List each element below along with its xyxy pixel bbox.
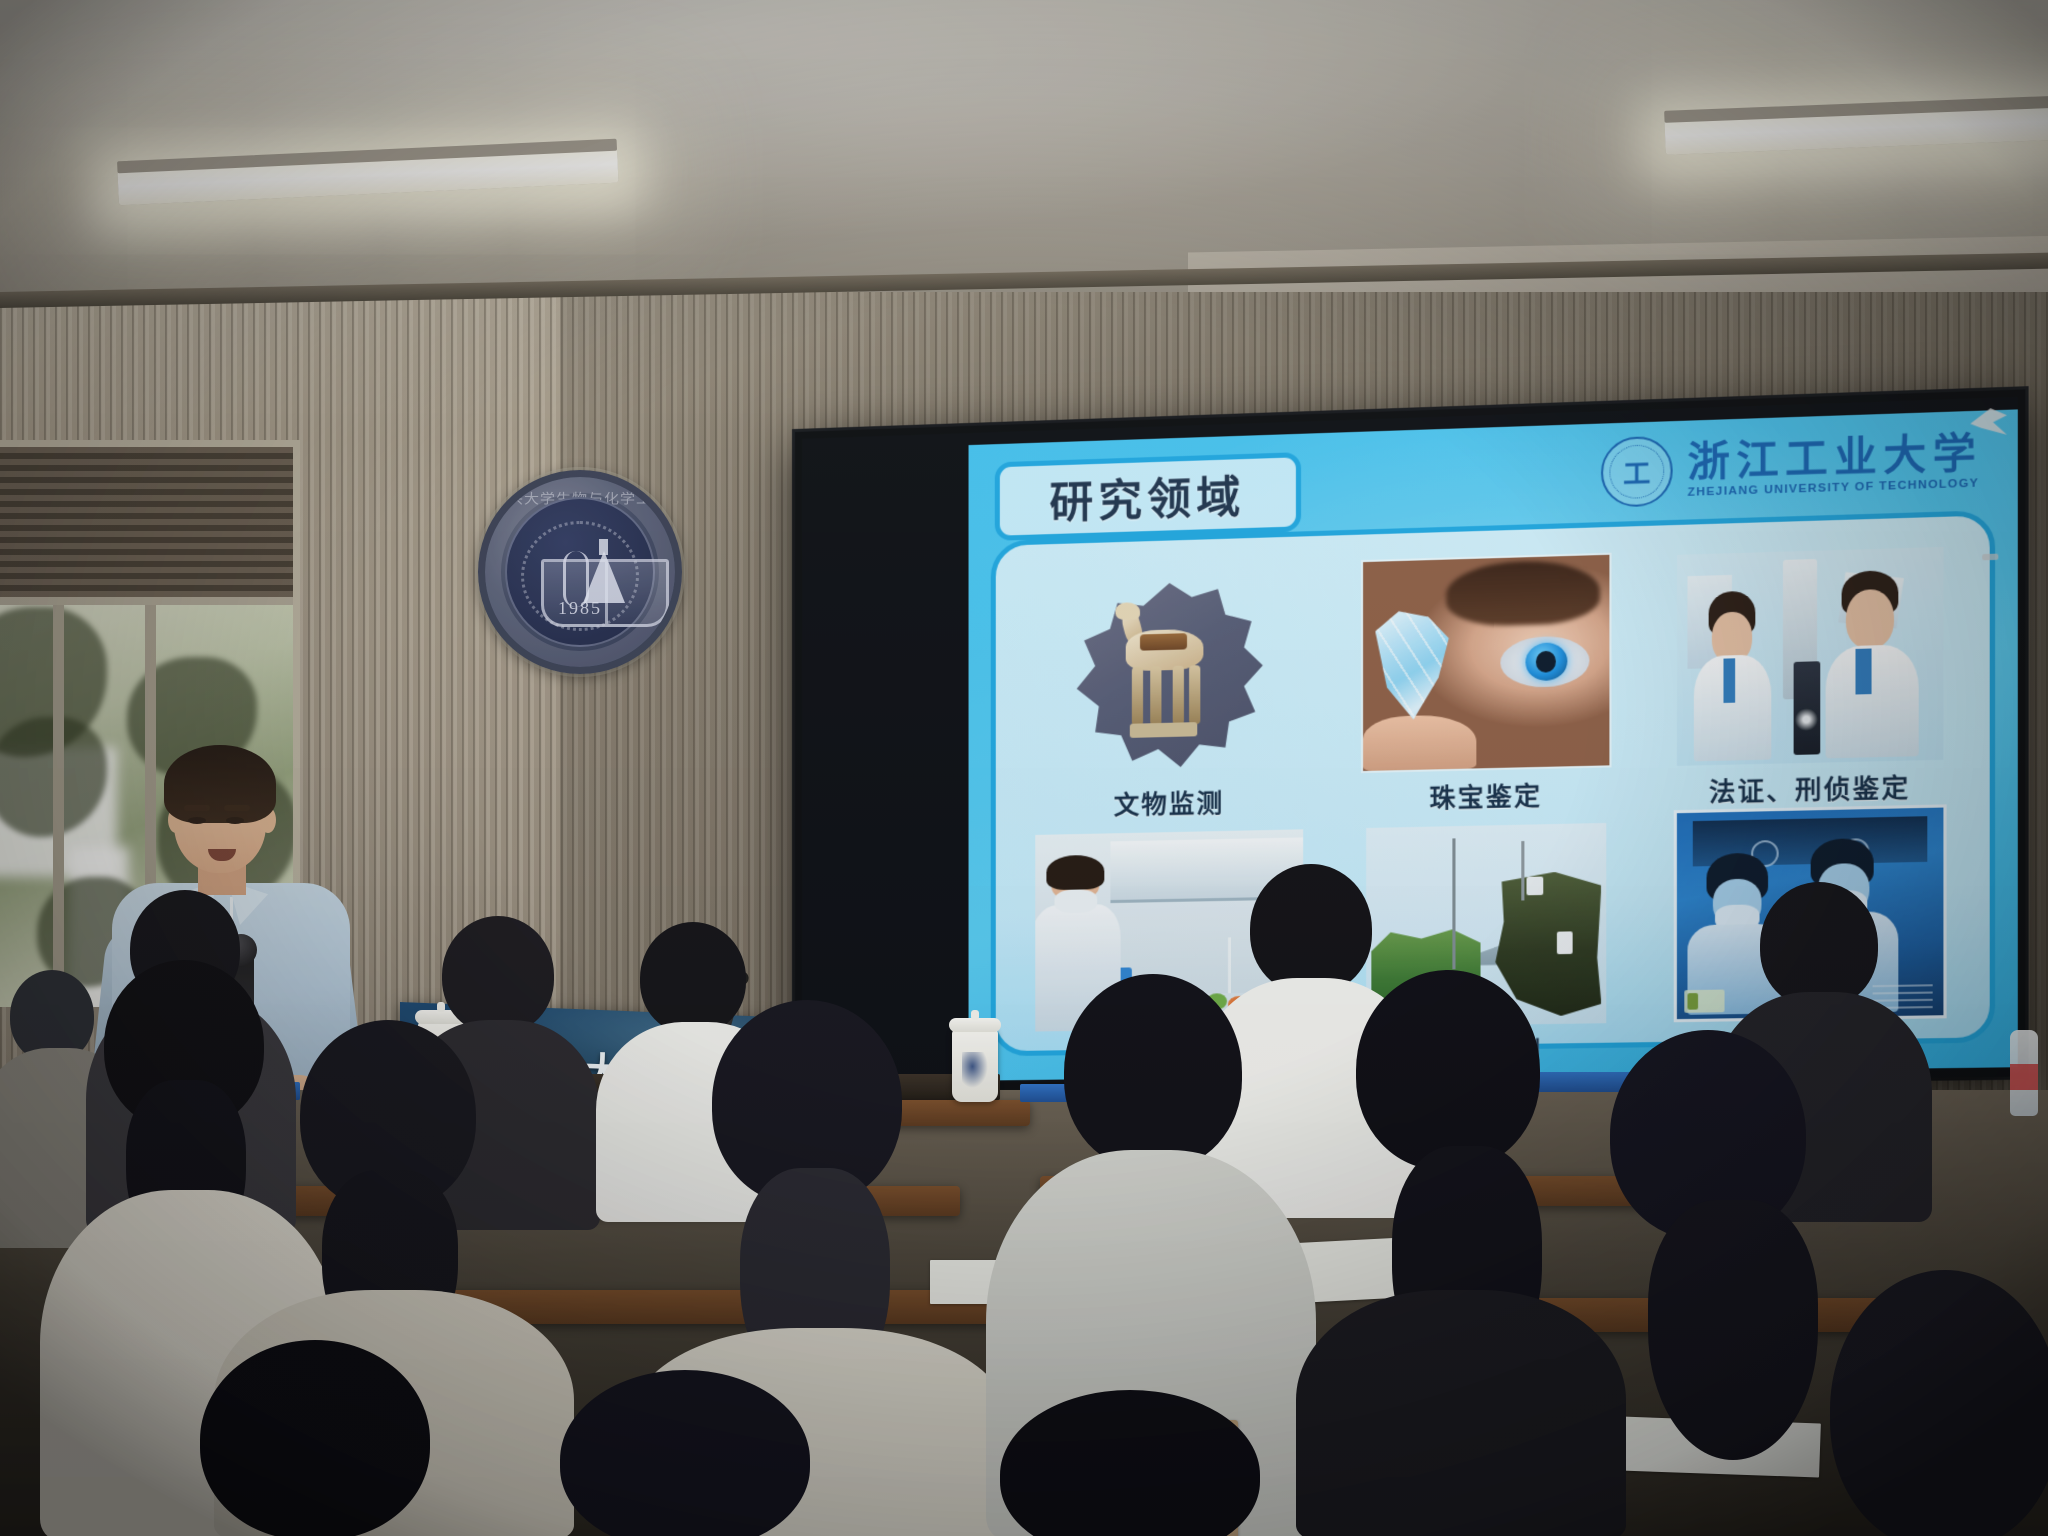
university-name-cn: 浙江工业大学 (1687, 431, 1982, 484)
university-name-block: 浙江工业大学 ZHEJIANG UNIVERSITY OF TECHNOLOGY (1687, 431, 1982, 498)
presenter-eyebrow (184, 805, 210, 811)
window-blinds[interactable] (0, 447, 293, 602)
audience-head (1064, 974, 1242, 1170)
presenter-eyebrow (224, 805, 250, 811)
emblem-flask-icon (583, 551, 625, 603)
college-emblem: 绍兴大学生物与化学工程学院 1985 (478, 470, 682, 674)
lab-badge (1684, 990, 1724, 1013)
audience-head (200, 1340, 430, 1536)
artifact-figure (1117, 602, 1215, 746)
relic-monitoring-image (1065, 572, 1275, 780)
audience-head (442, 916, 554, 1034)
forensic-person-left (1692, 590, 1782, 761)
university-logo: 工 浙江工业大学 ZHEJIANG UNIVERSITY OF TECHNOLO… (1601, 425, 1982, 508)
research-area-cell[interactable]: 法证、刑侦鉴定 (1647, 542, 1974, 811)
forensic-person-right (1825, 569, 1927, 759)
presenter-eye (226, 817, 244, 824)
slide-title: 研究领域 (1049, 462, 1245, 531)
presenter-hair (164, 745, 276, 823)
teacup (952, 1028, 998, 1102)
monitoring-mast (1452, 838, 1455, 970)
emblem-inner-disc: 1985 (505, 497, 655, 647)
finger (1363, 714, 1476, 771)
slide-title-box: 研究领域 (995, 452, 1301, 541)
sensor-box-icon (1557, 932, 1573, 955)
audience-head (1356, 970, 1540, 1170)
face-mask-icon (1054, 889, 1097, 913)
research-area-caption: 珠宝鉴定 (1429, 776, 1542, 815)
university-seal-icon: 工 (1601, 436, 1673, 508)
water-bottle (2010, 1030, 2038, 1116)
audience-head (640, 922, 746, 1034)
lecture-hall-scene: 绍兴大学生物与化学工程学院 1985 研究领域 工 (0, 0, 2048, 1536)
emblem-year: 1985 (507, 598, 653, 619)
audience-body (1296, 1290, 1626, 1536)
power-led (1982, 554, 1998, 561)
monitoring-mast (1521, 841, 1524, 901)
research-area-caption: 文物监测 (1114, 783, 1224, 822)
seal-mark: 工 (1623, 452, 1650, 491)
inspector-hair (1046, 855, 1105, 890)
research-area-cell[interactable]: 珠宝鉴定 (1327, 552, 1647, 818)
research-area-cell[interactable]: 文物监测 (1013, 561, 1327, 824)
audience-ponytail (1648, 1200, 1818, 1460)
research-area-caption: 法证、刑侦鉴定 (1709, 768, 1910, 810)
audience-head (560, 1370, 810, 1536)
audience-head (1760, 882, 1878, 1008)
forensics-image (1677, 547, 1944, 766)
window-rail (0, 597, 293, 605)
jewelry-appraisal-image (1361, 553, 1612, 773)
audience-head (1250, 864, 1372, 994)
sensor-box-icon (1527, 876, 1544, 895)
presenter-eye (188, 817, 206, 824)
audience-area (0, 1090, 2048, 1536)
